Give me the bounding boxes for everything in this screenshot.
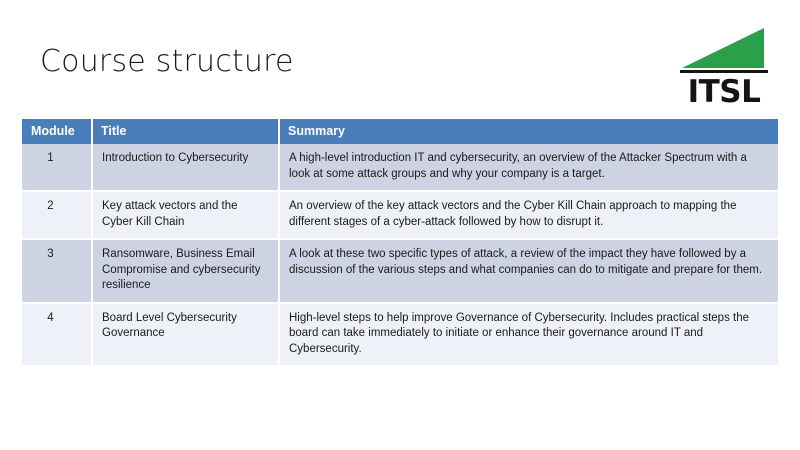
table-header: Module Title Summary [22, 119, 778, 144]
table-header-row: Module Title Summary [22, 119, 778, 144]
cell-title: Board Level Cybersecurity Governance [92, 303, 279, 366]
table-row: 3 Ransomware, Business Email Compromise … [22, 239, 778, 303]
cell-module: 1 [22, 144, 92, 191]
slide-canvas: Course structure ITSL Module Title Summa… [0, 0, 800, 450]
cell-module: 2 [22, 191, 92, 239]
cell-title: Key attack vectors and the Cyber Kill Ch… [92, 191, 279, 239]
cell-summary: An overview of the key attack vectors an… [279, 191, 778, 239]
cell-module: 3 [22, 239, 92, 303]
itsl-logo: ITSL [676, 26, 776, 108]
column-header-summary: Summary [279, 119, 778, 144]
table-row: 1 Introduction to Cybersecurity A high-l… [22, 144, 778, 191]
course-structure-table: Module Title Summary 1 Introduction to C… [22, 119, 778, 365]
cell-summary: High-level steps to help improve Governa… [279, 303, 778, 366]
cell-module: 4 [22, 303, 92, 366]
page-title: Course structure [40, 44, 294, 80]
cell-title: Ransomware, Business Email Compromise an… [92, 239, 279, 303]
cell-title: Introduction to Cybersecurity [92, 144, 279, 191]
cell-summary: A high-level introduction IT and cyberse… [279, 144, 778, 191]
table-row: 2 Key attack vectors and the Cyber Kill … [22, 191, 778, 239]
logo-wordmark: ITSL [676, 74, 772, 110]
column-header-title: Title [92, 119, 279, 144]
column-header-module: Module [22, 119, 92, 144]
logo-triangle-icon [682, 28, 764, 68]
table-row: 4 Board Level Cybersecurity Governance H… [22, 303, 778, 366]
logo-divider [680, 70, 768, 73]
cell-summary: A look at these two specific types of at… [279, 239, 778, 303]
table-body: 1 Introduction to Cybersecurity A high-l… [22, 144, 778, 365]
